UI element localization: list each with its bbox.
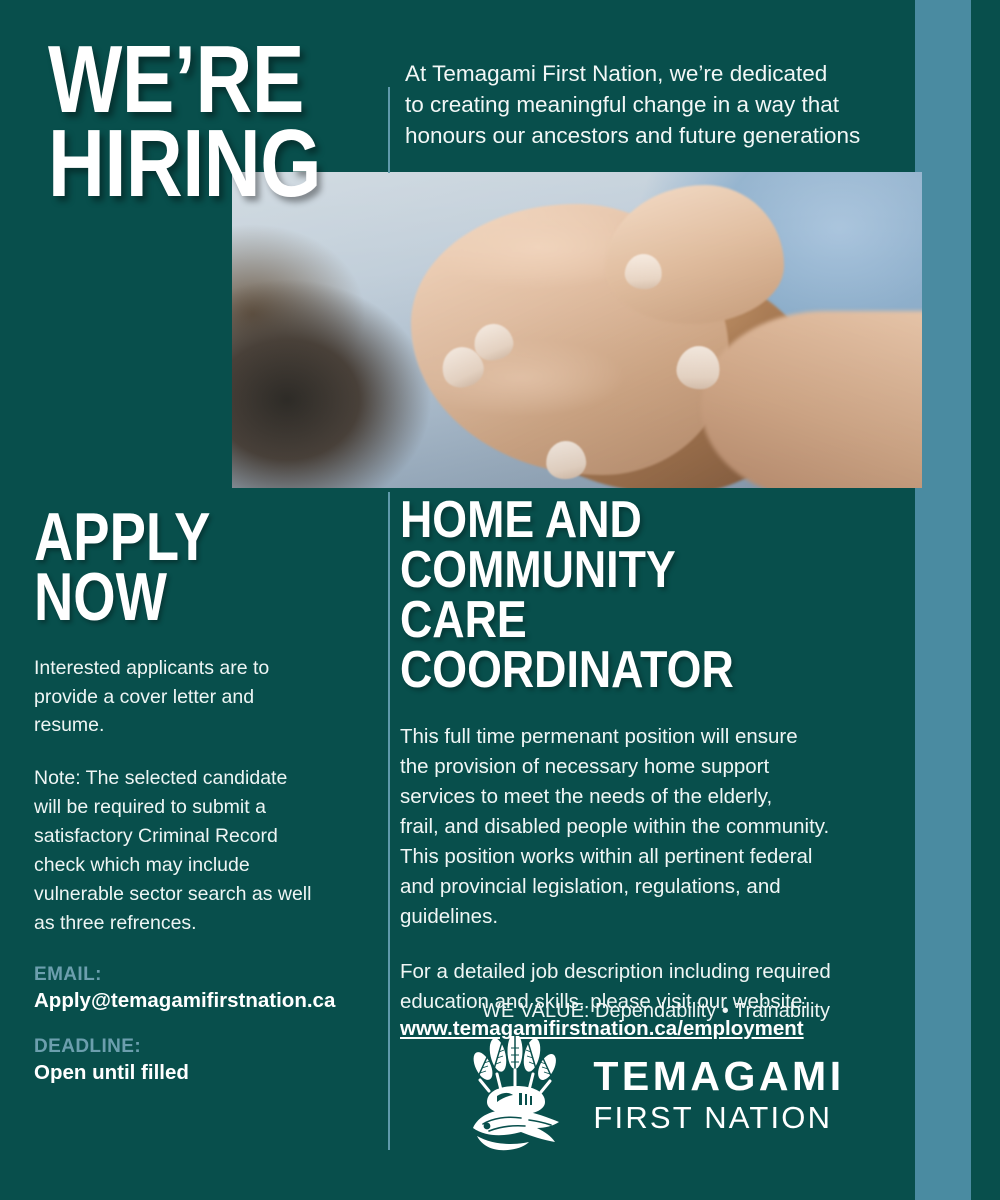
logo-name: TEMAGAMI xyxy=(593,1056,844,1097)
hiring-headline: WE’RE HIRING xyxy=(48,38,321,207)
job-details-column: HOME AND COMMUNITY CARE COORDINATOR This… xyxy=(400,496,912,1041)
logo-wordmark: TEMAGAMI FIRST NATION xyxy=(593,1056,844,1133)
deadline-value: Open until filled xyxy=(34,1060,374,1087)
decorative-vertical-stripe xyxy=(915,0,971,1200)
job-posting-poster: WE’RE HIRING At Temagami First Nation, w… xyxy=(0,0,1000,1200)
values-statement: WE VALUE: Dependability • Trainability xyxy=(400,1000,912,1023)
mission-statement: At Temagami First Nation, we’re dedicate… xyxy=(405,58,905,151)
email-label: EMAIL: xyxy=(34,963,374,987)
email-block: EMAIL: Apply@temagamifirstnation.ca xyxy=(34,963,374,1014)
logo-subname: FIRST NATION xyxy=(593,1102,844,1133)
background-check-note: Note: The selected candidate will be req… xyxy=(34,764,374,937)
bear-paw-and-fish-logo-icon xyxy=(467,1036,571,1152)
job-description: This full time permenant position will e… xyxy=(400,722,912,933)
organization-logo: TEMAGAMI FIRST NATION xyxy=(400,1036,912,1152)
clasped-hands-photo xyxy=(232,172,922,488)
job-title: HOME AND COMMUNITY CARE COORDINATOR xyxy=(400,496,840,696)
deadline-label: DEADLINE: xyxy=(34,1035,374,1059)
photo-overlay-veil xyxy=(232,172,922,488)
divider-top xyxy=(388,87,390,173)
application-instructions: Interested applicants are to provide a c… xyxy=(34,654,374,741)
deadline-block: DEADLINE: Open until filled xyxy=(34,1035,374,1086)
email-address[interactable]: Apply@temagamifirstnation.ca xyxy=(34,988,374,1015)
apply-column: APPLY NOW Interested applicants are to p… xyxy=(34,508,374,1086)
divider-main xyxy=(388,492,390,1150)
apply-now-heading: APPLY NOW xyxy=(34,508,306,628)
